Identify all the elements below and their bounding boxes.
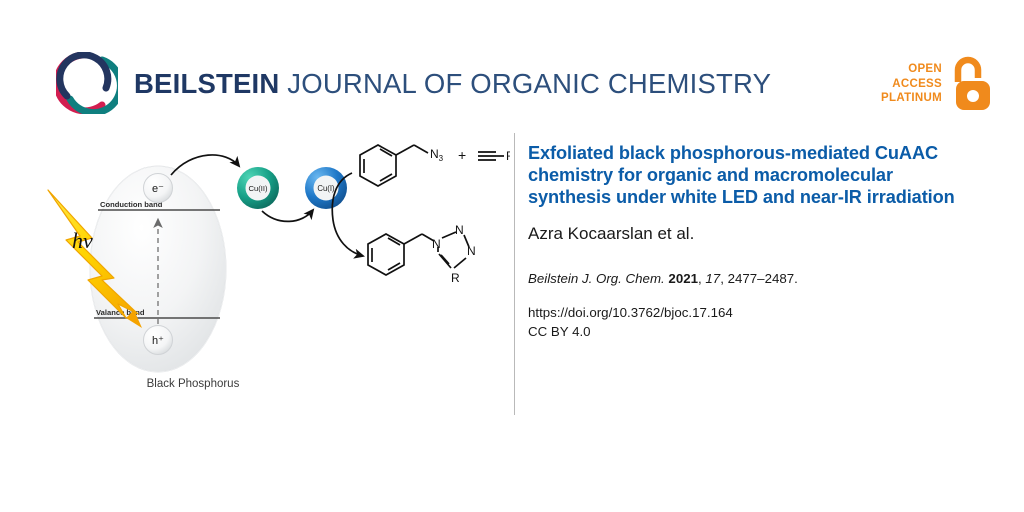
benzyl-azide-structure (360, 145, 428, 186)
cu1-sphere: Cu(I) (305, 167, 347, 209)
article-license: CC BY 4.0 (528, 322, 980, 341)
cu2-label: Cu(II) (249, 184, 268, 193)
cu1-label: Cu(I) (317, 184, 335, 193)
open-lock-icon (948, 56, 996, 112)
article-title: Exfoliated black phosphorous-mediated Cu… (528, 142, 980, 209)
hole-label: h⁺ (152, 335, 164, 347)
electron-label: e⁻ (152, 183, 164, 195)
open-access-line-open: OPEN (881, 62, 942, 77)
photon-label: hν (72, 228, 93, 253)
page-header: BEILSTEIN JOURNAL OF ORGANIC CHEMISTRY O… (0, 0, 1024, 128)
citation-volume: 17 (705, 271, 720, 286)
triazole-product-structure (368, 232, 469, 275)
triazole-n1-label: N (432, 237, 441, 251)
beilstein-ring-logo (56, 52, 118, 114)
alkyne-r-label: R (506, 149, 510, 163)
citation-year: 2021 (668, 271, 698, 286)
alkyne-structure (478, 152, 504, 160)
journal-title: BEILSTEIN JOURNAL OF ORGANIC CHEMISTRY (134, 68, 771, 100)
triazole-n2-label: N (455, 223, 464, 237)
journal-title-bold: BEILSTEIN (134, 68, 279, 99)
citation-pages: 2477–2487. (728, 271, 798, 286)
cu2-sphere: Cu(II) (237, 167, 279, 209)
open-access-line-access: ACCESS (881, 77, 942, 92)
electron-ball: e⁻ (144, 174, 173, 203)
journal-title-light: JOURNAL OF ORGANIC CHEMISTRY (287, 68, 771, 99)
graphical-abstract: Conduction band Valance band e⁻ h⁺ hν (30, 128, 510, 413)
azide-n-label: N3 (430, 147, 444, 163)
plus-sign: + (458, 147, 466, 163)
triazole-n3-label: N (467, 244, 476, 258)
article-info-panel: Exfoliated black phosphorous-mediated Cu… (528, 142, 980, 341)
article-doi-link[interactable]: https://doi.org/10.3762/bjoc.17.164 (528, 303, 980, 322)
black-phosphorus-caption: Black Phosphorus (108, 378, 278, 390)
open-access-text: OPEN ACCESS PLATINUM (881, 62, 942, 106)
citation-journal: Beilstein J. Org. Chem. (528, 271, 665, 286)
article-citation: Beilstein J. Org. Chem. 2021, 17, 2477–2… (528, 270, 980, 288)
vertical-divider (514, 133, 515, 415)
open-access-line-platinum: PLATINUM (881, 91, 942, 106)
hole-ball: h⁺ (144, 326, 173, 355)
open-access-badge: OPEN ACCESS PLATINUM (866, 56, 996, 114)
article-authors: Azra Kocaarslan et al. (528, 223, 980, 244)
triazole-r-label: R (451, 271, 460, 285)
arrow-cu2-to-cu1 (262, 210, 313, 221)
